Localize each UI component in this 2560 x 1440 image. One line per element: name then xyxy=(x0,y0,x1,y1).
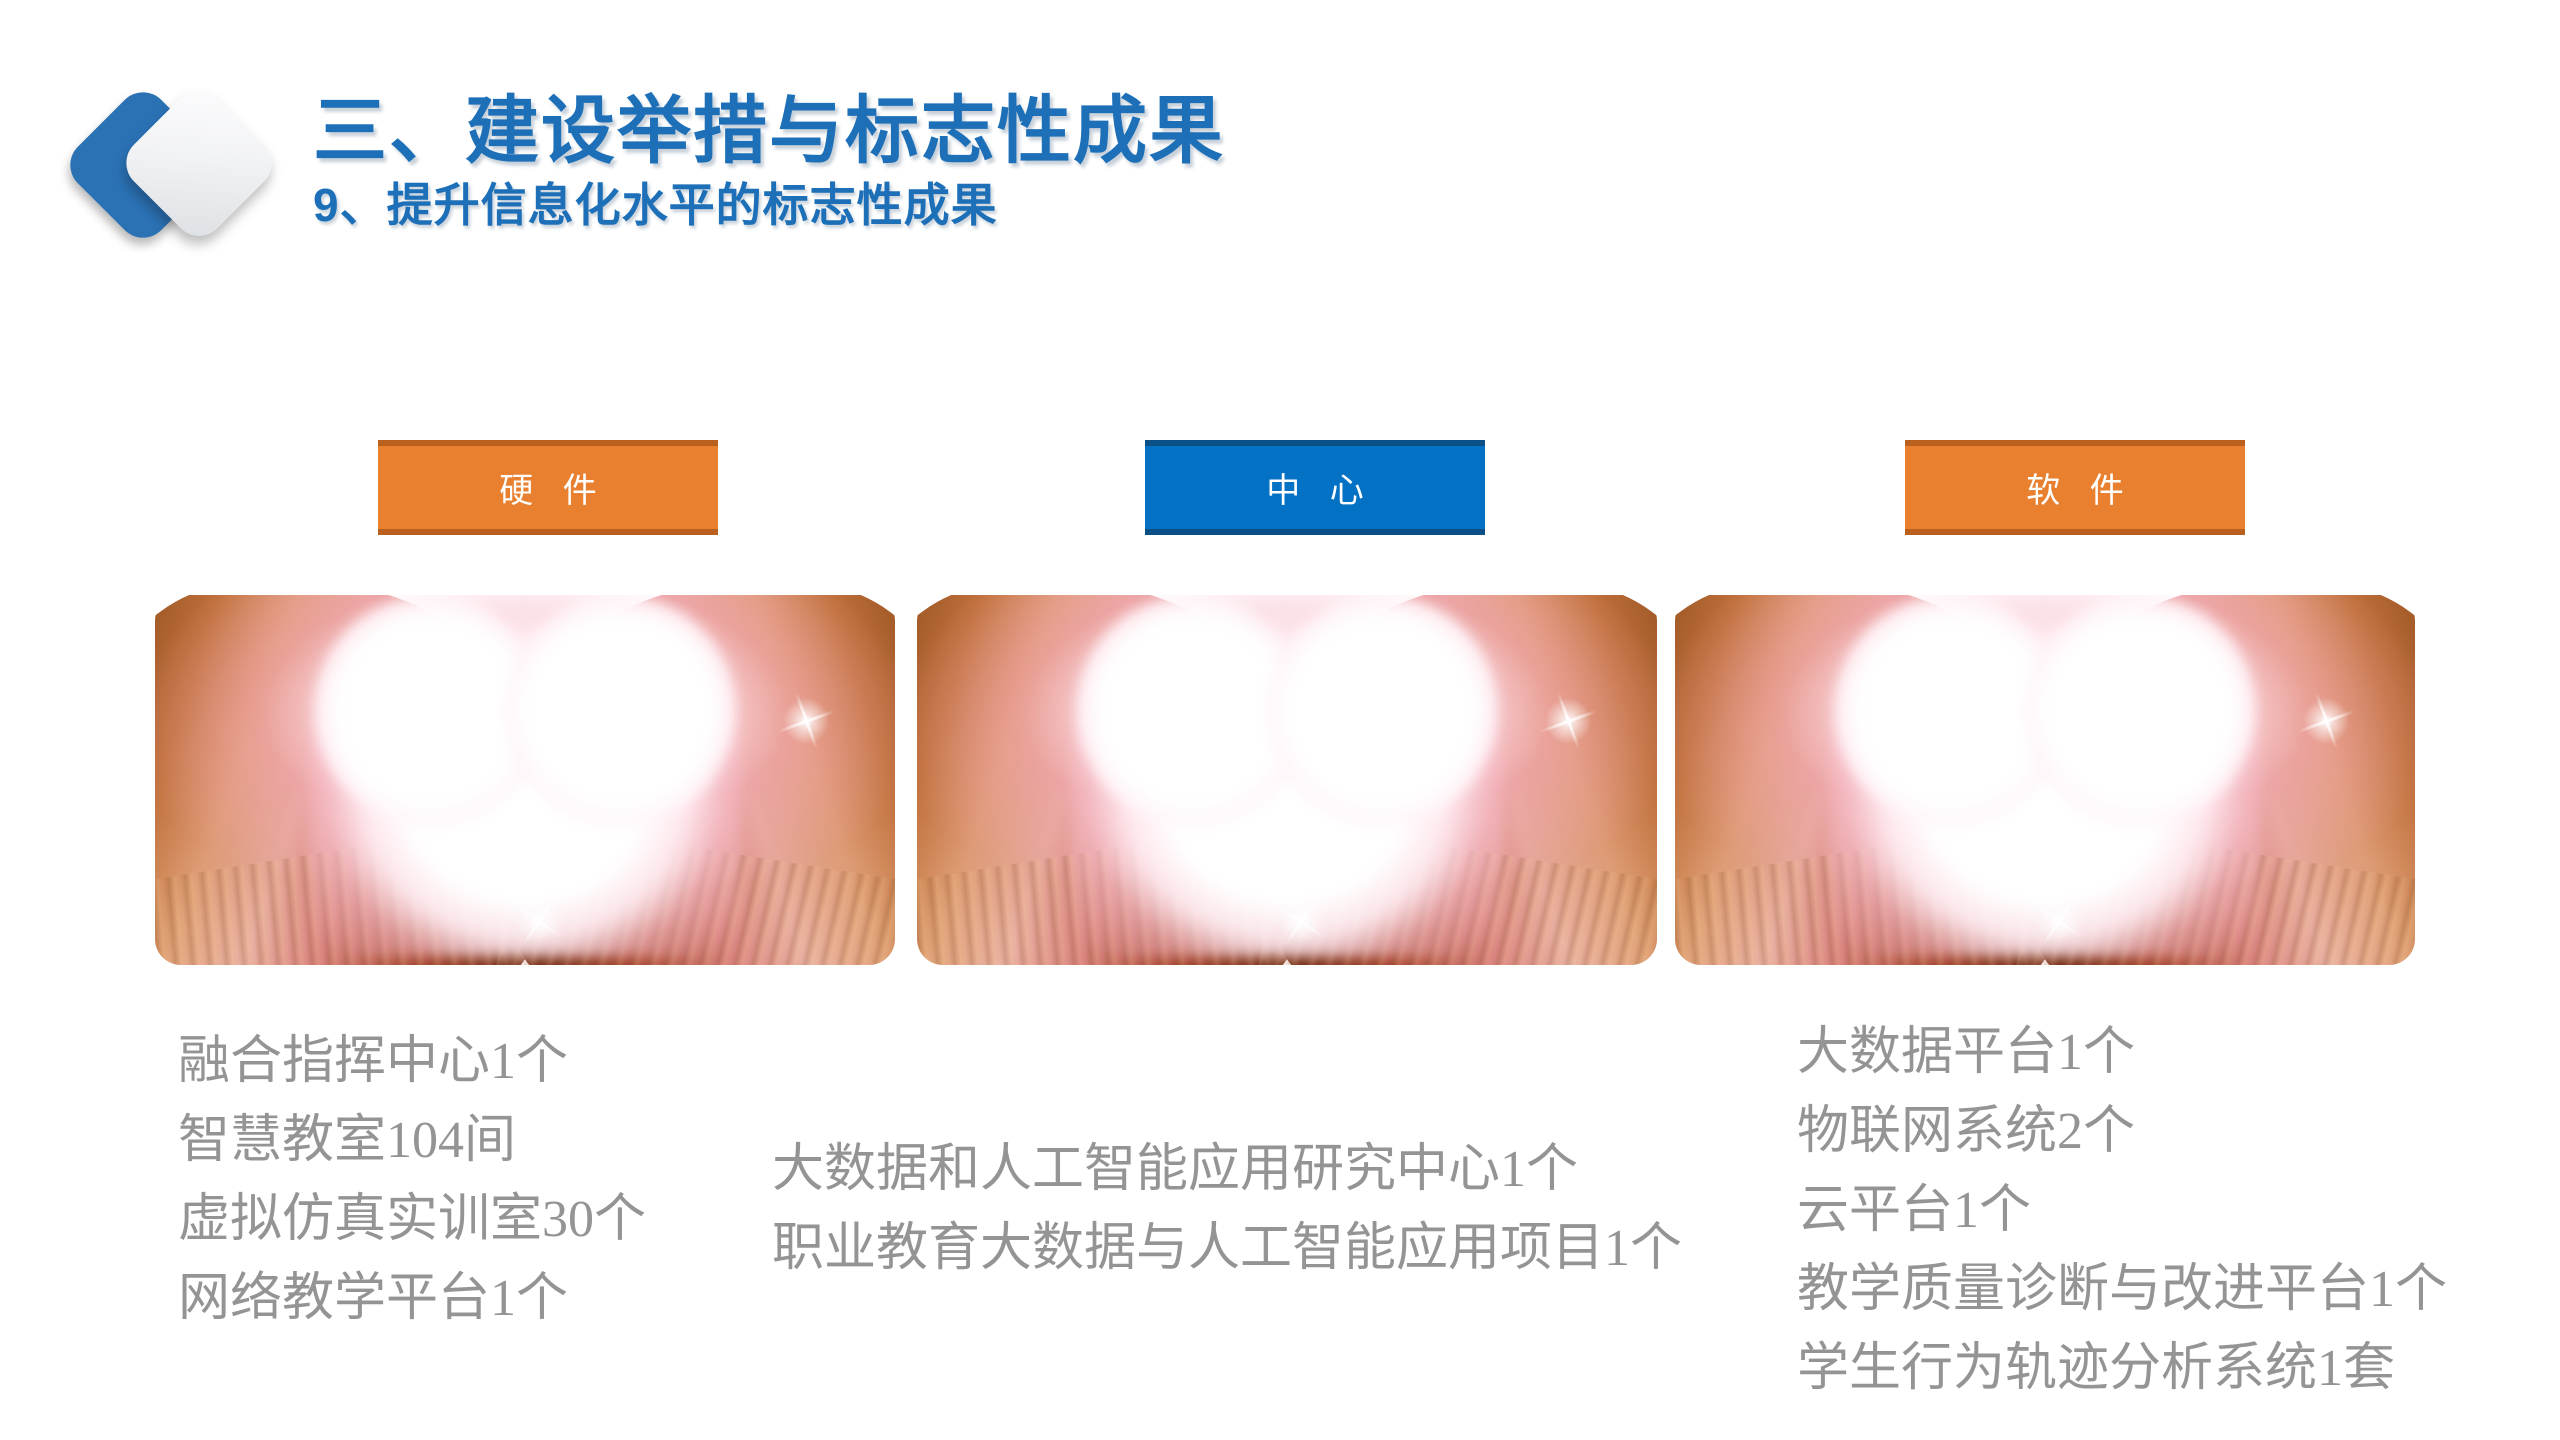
category-badge-software[interactable]: 软 件 xyxy=(1905,440,2245,535)
list-item: 大数据平台1个 xyxy=(1797,1013,2447,1092)
list-item: 融合指挥中心1个 xyxy=(178,1022,646,1101)
list-item: 教学质量诊断与改进平台1个 xyxy=(1797,1250,2447,1329)
hands-heart-photo-icon xyxy=(155,595,895,965)
page-title: 三、建设举措与标志性成果 xyxy=(313,94,1225,168)
list-item: 学生行为轨迹分析系统1套 xyxy=(1797,1329,2447,1408)
list-item: 云平台1个 xyxy=(1797,1171,2447,1250)
list-item: 大数据和人工智能应用研究中心1个 xyxy=(772,1130,1682,1209)
page-subtitle: 9、提升信息化水平的标志性成果 xyxy=(313,182,1225,228)
hands-heart-photo-icon xyxy=(917,595,1657,965)
bullet-list-hardware: 融合指挥中心1个 智慧教室104间 虚拟仿真实训室30个 网络教学平台1个 xyxy=(178,1022,646,1338)
list-item: 智慧教室104间 xyxy=(178,1101,646,1180)
list-item: 物联网系统2个 xyxy=(1797,1092,2447,1171)
bullet-list-center: 大数据和人工智能应用研究中心1个 职业教育大数据与人工智能应用项目1个 xyxy=(772,1130,1682,1288)
slide-header: 三、建设举措与标志性成果 9、提升信息化水平的标志性成果 xyxy=(0,0,2560,330)
category-badge-label: 中 心 xyxy=(1256,463,1373,512)
category-badge-label: 硬 件 xyxy=(489,463,606,512)
hands-heart-photo-hardware xyxy=(155,595,895,965)
hands-heart-photo-icon xyxy=(1675,595,2415,965)
category-badge-center[interactable]: 中 心 xyxy=(1145,440,1485,535)
list-item: 虚拟仿真实训室30个 xyxy=(178,1180,646,1259)
hands-heart-photo-software xyxy=(1675,595,2415,965)
category-badge-label: 软 件 xyxy=(2016,463,2133,512)
bullet-list-software: 大数据平台1个 物联网系统2个 云平台1个 教学质量诊断与改进平台1个 学生行为… xyxy=(1797,1013,2447,1408)
list-item: 网络教学平台1个 xyxy=(178,1259,646,1338)
title-block: 三、建设举措与标志性成果 9、提升信息化水平的标志性成果 xyxy=(313,94,1225,228)
list-item: 职业教育大数据与人工智能应用项目1个 xyxy=(772,1209,1682,1288)
double-diamond-logo-icon xyxy=(78,78,278,258)
category-badge-hardware[interactable]: 硬 件 xyxy=(378,440,718,535)
hands-heart-photo-center xyxy=(917,595,1657,965)
